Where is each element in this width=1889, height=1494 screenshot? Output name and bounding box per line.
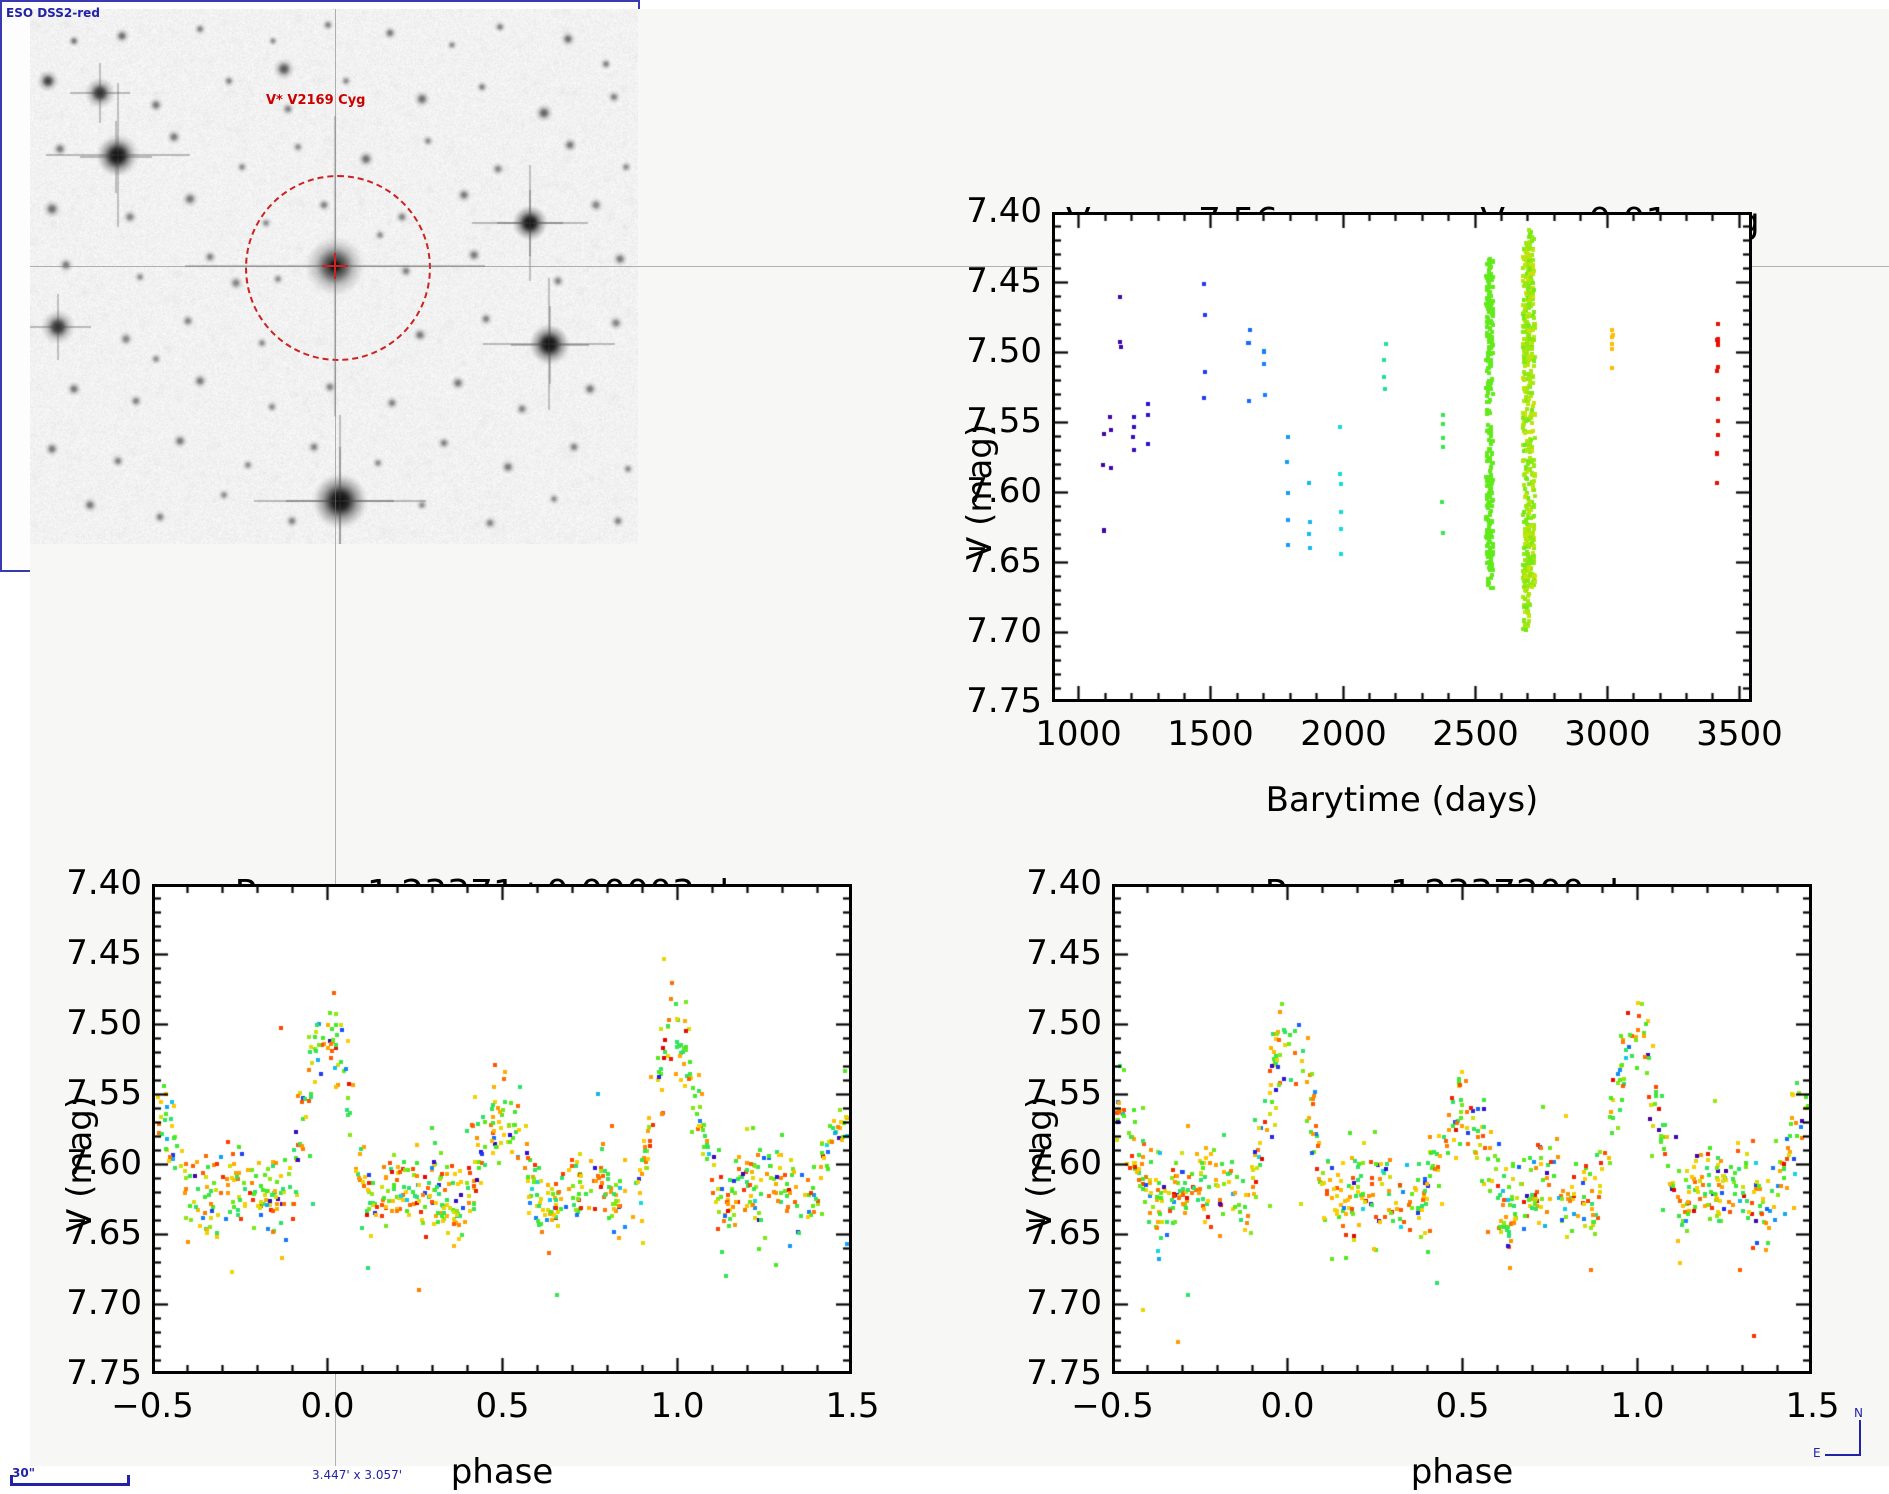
phase-vsx-y-tick-label: 7.40 <box>998 863 1102 903</box>
lightcurve-y-tick-label: 7.60 <box>938 471 1042 511</box>
phase-omc-y-tick-label: 7.55 <box>38 1073 142 1113</box>
phase-vsx-y-tick-label: 7.75 <box>998 1353 1102 1393</box>
phase-omc-y-tick-label: 7.50 <box>38 1003 142 1043</box>
lightcurve-y-tick-label: 7.55 <box>938 401 1042 441</box>
phase-vsx-x-axis-label: phase <box>1112 1452 1812 1492</box>
phase-omc-plot-frame <box>152 884 852 1374</box>
phase-omc-x-tick-label: 0.0 <box>238 1386 418 1426</box>
phase-omc-x-tick-label: 1.5 <box>763 1386 943 1426</box>
finder-chart: V* V2169 Cyg ESO DSS2-red 30" 3.447' x 3… <box>0 0 640 572</box>
lightcurve-y-axis-label: V (mag) <box>960 360 1000 560</box>
lightcurve-x-axis-label: Barytime (days) <box>1052 780 1752 820</box>
phase-omc-x-tick-label: 0.5 <box>413 1386 593 1426</box>
lightcurve-panel: Vmed = 7.56 mag <err_V> = 0.01 mag V (ma… <box>940 160 1840 820</box>
phase-omc-x-tick-label: 1.0 <box>588 1386 768 1426</box>
finder-scale-label: 30" <box>12 1466 35 1480</box>
target-aperture-circle <box>245 175 431 361</box>
lightcurve-y-tick-label: 7.75 <box>938 681 1042 721</box>
phase-vsx-plot-frame <box>1112 884 1812 1374</box>
phase-vsx-y-tick-label: 7.65 <box>998 1213 1102 1253</box>
lightcurve-y-tick-label: 7.65 <box>938 541 1042 581</box>
phase-omc-y-tick-label: 7.70 <box>38 1283 142 1323</box>
lightcurve-y-tick-label: 7.70 <box>938 611 1042 651</box>
phase-vsx-x-tick-label: 1.5 <box>1723 1386 1889 1426</box>
phase-vsx-y-tick-label: 7.70 <box>998 1283 1102 1323</box>
lightcurve-x-tick-label: 3500 <box>1650 714 1830 754</box>
phase-vsx-y-tick-label: 7.45 <box>998 933 1102 973</box>
phase-vsx-x-tick-label: 0.0 <box>1198 1386 1378 1426</box>
phase-vsx-x-tick-label: 1.0 <box>1548 1386 1728 1426</box>
phase-vsx-y-tick-label: 7.60 <box>998 1143 1102 1183</box>
lightcurve-y-tick-label: 7.50 <box>938 331 1042 371</box>
phase-omc-y-tick-label: 7.60 <box>38 1143 142 1183</box>
phase-vsx-y-tick-label: 7.50 <box>998 1003 1102 1043</box>
finder-survey-label: ESO DSS2-red <box>6 6 100 20</box>
target-marker-vertical <box>334 253 336 279</box>
lightcurve-y-tick-label: 7.45 <box>938 261 1042 301</box>
phase-omc-y-tick-label: 7.65 <box>38 1213 142 1253</box>
phase-omc-y-axis-label: V (mag) <box>60 1032 100 1232</box>
phase-omc-x-axis-label: phase <box>152 1452 852 1492</box>
lightcurve-plot-frame <box>1052 212 1752 702</box>
phase-omc-y-tick-label: 7.40 <box>38 863 142 903</box>
finder-scale-bar <box>10 1483 130 1486</box>
phase-omc-y-tick-label: 7.45 <box>38 933 142 973</box>
phase-omc-y-tick-label: 7.75 <box>38 1353 142 1393</box>
finder-object-label: V* V2169 Cyg <box>266 93 365 108</box>
lightcurve-y-tick-label: 7.40 <box>938 191 1042 231</box>
phase-vsx-y-axis-label: V (mag) <box>1020 1032 1060 1232</box>
phase-vsx-x-tick-label: 0.5 <box>1373 1386 1553 1426</box>
phase-vsx-y-tick-label: 7.55 <box>998 1073 1102 1113</box>
phase-omc-panel: POMC = 1.23371±0.00003 days V (mag) phas… <box>40 832 940 1472</box>
phase-vsx-panel: PVSX = 1.2337200 days V (mag) phase −0.5… <box>1000 832 1889 1472</box>
